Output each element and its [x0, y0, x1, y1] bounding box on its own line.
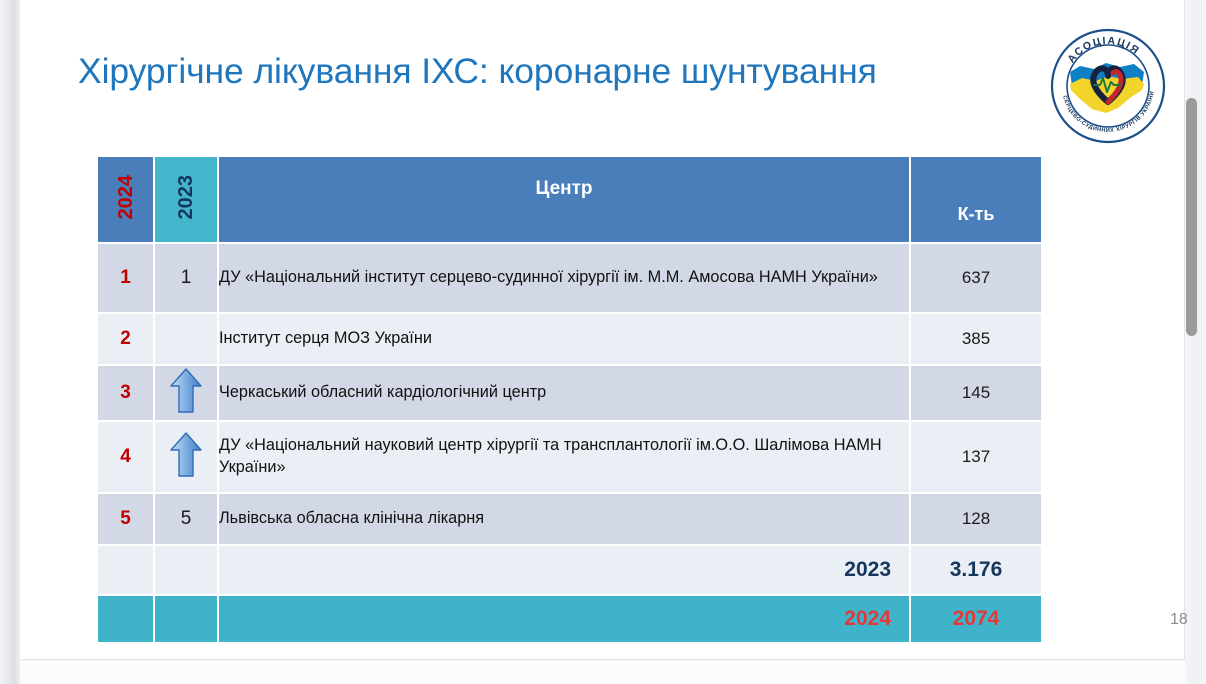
- cell-quantity: 385: [911, 314, 1041, 364]
- cell-rank-2024: 3: [98, 366, 153, 420]
- summary-spacer-2024: [98, 596, 153, 642]
- cell-center-name: ДУ «Національний науковий центр хірургії…: [219, 422, 909, 492]
- cell-rank-2024: 5: [98, 494, 153, 544]
- cell-quantity: 637: [911, 244, 1041, 312]
- column-header-rank-2023: 2023: [155, 157, 217, 242]
- ranking-table-wrapper: 2024 2023 Центр К-ть: [96, 155, 1035, 644]
- table-row: 1 1 ДУ «Національний інститут серцево-су…: [98, 244, 1041, 312]
- association-logo-icon: АСОЦІАЦІЯ СЕРЦЕВО-СУДИННИХ ХІРУРГІВ УКРА…: [1050, 28, 1166, 144]
- table-row: 4: [98, 422, 1041, 492]
- summary-label-2024: 2024: [219, 596, 909, 642]
- cell-quantity: 145: [911, 366, 1041, 420]
- summary-row-2024: 2024 2074: [98, 596, 1041, 642]
- vertical-scrollbar-thumb[interactable]: [1186, 98, 1197, 336]
- up-arrow-icon: [169, 367, 203, 420]
- summary-label-2023: 2023: [219, 546, 909, 594]
- cell-rank-2023: 1: [155, 244, 217, 312]
- table-row: 2 Інститут серця МОЗ України 385: [98, 314, 1041, 364]
- cell-center-name: Черкаський обласний кардіологічний центр: [219, 366, 909, 420]
- cell-rank-2024: 2: [98, 314, 153, 364]
- cell-rank-2023: [155, 366, 217, 420]
- page-number: 18: [1170, 611, 1188, 629]
- table-row: 5 5 Львівська обласна клінічна лікарня 1…: [98, 494, 1041, 544]
- column-header-quantity: К-ть: [911, 157, 1041, 242]
- summary-value-2023: 3.176: [911, 546, 1041, 594]
- cell-rank-2023: [155, 314, 217, 364]
- column-header-quantity-label: К-ть: [911, 204, 1041, 225]
- table-row: 3: [98, 366, 1041, 420]
- slide-viewer: Хірургічне лікування ІХС: коронарне шунт…: [0, 0, 1206, 684]
- cell-rank-2023: 5: [155, 494, 217, 544]
- slide-canvas: Хірургічне лікування ІХС: коронарне шунт…: [21, 0, 1185, 660]
- cell-rank-2024: 1: [98, 244, 153, 312]
- cell-quantity: 137: [911, 422, 1041, 492]
- viewer-left-gutter: [0, 0, 20, 684]
- column-header-rank-2024-label: 2024: [116, 175, 136, 220]
- column-header-center-label: Центр: [219, 178, 909, 200]
- summary-spacer-2023: [155, 546, 217, 594]
- column-header-center: Центр: [219, 157, 909, 242]
- summary-value-2024: 2074: [911, 596, 1041, 642]
- summary-spacer-2023: [155, 596, 217, 642]
- summary-spacer-2024: [98, 546, 153, 594]
- column-header-rank-2024: 2024: [98, 157, 153, 242]
- cell-center-name: Інститут серця МОЗ України: [219, 314, 909, 364]
- up-arrow-icon: [169, 431, 203, 484]
- ranking-table: 2024 2023 Центр К-ть: [96, 155, 1043, 644]
- cell-center-name: ДУ «Національний інститут серцево-судинн…: [219, 244, 909, 312]
- cell-rank-2023: [155, 422, 217, 492]
- summary-row-2023: 2023 3.176: [98, 546, 1041, 594]
- vertical-scrollbar-track[interactable]: [1189, 0, 1202, 684]
- cell-rank-2024: 4: [98, 422, 153, 492]
- table-header-row: 2024 2023 Центр К-ть: [98, 157, 1041, 242]
- cell-center-name: Львівська обласна клінічна лікарня: [219, 494, 909, 544]
- page-title: Хірургічне лікування ІХС: коронарне шунт…: [78, 52, 1088, 92]
- cell-quantity: 128: [911, 494, 1041, 544]
- column-header-rank-2023-label: 2023: [176, 175, 196, 220]
